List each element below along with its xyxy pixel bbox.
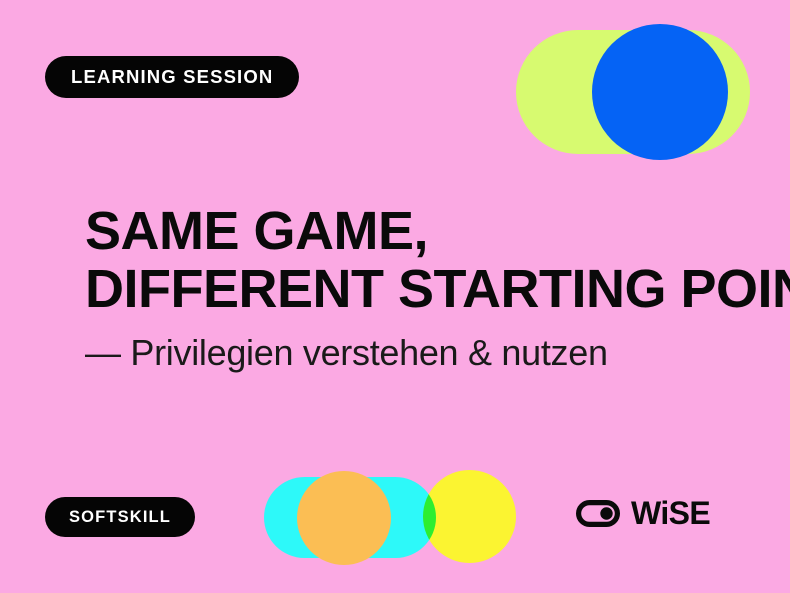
orange-circle-shape <box>297 471 391 565</box>
blue-circle-shape <box>592 24 728 160</box>
wise-wordmark: WiSE <box>631 497 710 529</box>
decorative-shape-group-bottom <box>264 470 512 568</box>
badge-learning-session: LEARNING SESSION <box>45 56 299 98</box>
decorative-shape-group-top <box>516 30 750 154</box>
badge-softskill: SOFTSKILL <box>45 497 195 537</box>
headline-line-1: SAME GAME, <box>85 202 790 260</box>
page-title: SAME GAME, DIFFERENT STARTING POINT. <box>85 202 790 319</box>
toggle-switch-icon <box>576 500 620 527</box>
yellow-circle-shape <box>423 470 516 563</box>
wise-logo: WiSE <box>576 497 710 529</box>
badge-learning-session-label: LEARNING SESSION <box>71 66 273 88</box>
subtitle: — Privilegien verstehen & nutzen <box>85 332 608 374</box>
badge-softskill-label: SOFTSKILL <box>69 508 171 527</box>
headline-line-2: DIFFERENT STARTING POINT. <box>85 260 790 318</box>
poster-canvas: LEARNING SESSION SAME GAME, DIFFERENT ST… <box>0 0 790 593</box>
